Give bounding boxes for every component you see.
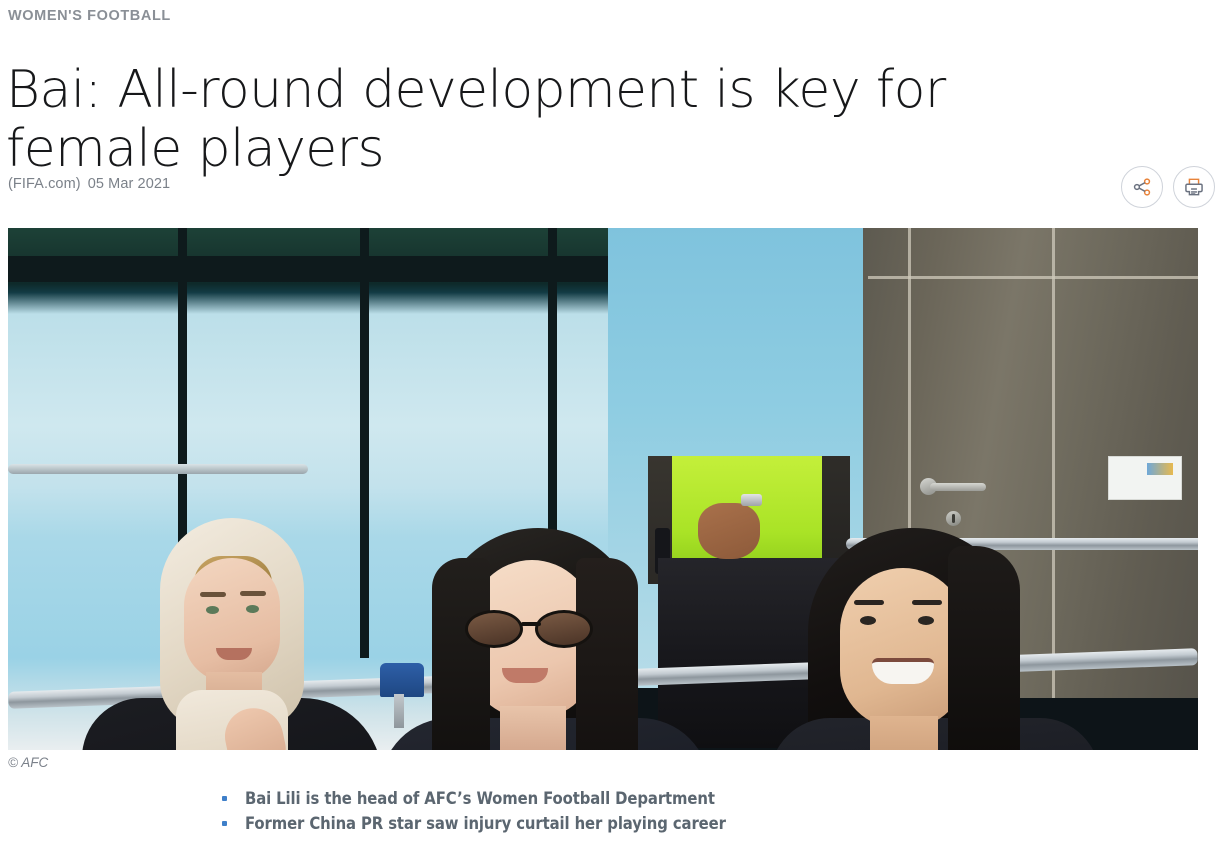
door-seam	[868, 276, 1198, 279]
window-mullion	[360, 228, 369, 658]
woman-right-brow	[854, 600, 884, 605]
woman-left-brow	[240, 591, 266, 596]
guard-wristwatch	[741, 494, 762, 506]
sunglass-bridge	[521, 622, 541, 626]
woman-left-eye	[206, 606, 219, 614]
page-title: Bai: All-round development is key for fe…	[6, 61, 1086, 180]
handrail-upper-left	[8, 464, 308, 474]
sunglass-lens-right	[535, 610, 593, 648]
share-icon	[1131, 176, 1153, 198]
window-transom	[8, 256, 628, 282]
share-button[interactable]	[1121, 166, 1163, 208]
woman-center-hair-left	[432, 558, 490, 750]
woman-left-eye	[246, 605, 259, 613]
door-seam	[1052, 228, 1055, 698]
woman-right-neck	[870, 716, 938, 750]
woman-right-brow	[912, 600, 942, 605]
print-button[interactable]	[1173, 166, 1215, 208]
woman-center-neck	[500, 706, 566, 750]
woman-right-smile	[872, 658, 934, 684]
sunglass-lens-left	[465, 610, 523, 648]
article-kicker[interactable]: WOMEN'S FOOTBALL	[8, 8, 171, 24]
door-handle	[930, 483, 986, 491]
bullet-icon	[222, 821, 227, 826]
guard-clasped-hands	[698, 503, 760, 559]
woman-right-eye	[860, 616, 876, 625]
woman-center-hair-right	[576, 558, 638, 750]
woman-right-hair-side	[948, 546, 1020, 750]
woman-right-eye	[918, 616, 934, 625]
article-page: WOMEN'S FOOTBALL Bai: All-round developm…	[0, 0, 1229, 842]
wall-notice	[1108, 456, 1182, 500]
list-item: Former China PR star saw injury curtail …	[222, 814, 726, 833]
photo-scene	[8, 228, 1198, 750]
woman-center-sunglasses	[463, 610, 603, 650]
bullet-text: Former China PR star saw injury curtail …	[245, 814, 726, 833]
woman-left-face	[184, 558, 280, 682]
blue-chair	[380, 663, 424, 697]
bullet-icon	[222, 796, 227, 801]
list-item: Bai Lili is the head of AFC’s Women Foot…	[222, 789, 726, 808]
article-actions	[1121, 166, 1215, 208]
woman-left-brow	[200, 592, 226, 597]
byline: (FIFA.com)05 Mar 2021	[8, 176, 170, 192]
image-credit: © AFC	[8, 755, 48, 770]
print-icon	[1183, 176, 1205, 198]
byline-date: 05 Mar 2021	[88, 176, 171, 192]
door-lock	[946, 511, 961, 526]
article-hero-image	[8, 228, 1198, 750]
woman-center-mouth	[502, 668, 548, 683]
chair-leg	[394, 694, 404, 728]
bullet-text: Bai Lili is the head of AFC’s Women Foot…	[245, 789, 715, 808]
door-seam	[908, 228, 911, 528]
byline-source: (FIFA.com)	[8, 176, 81, 192]
article-summary-bullets: Bai Lili is the head of AFC’s Women Foot…	[222, 789, 726, 839]
